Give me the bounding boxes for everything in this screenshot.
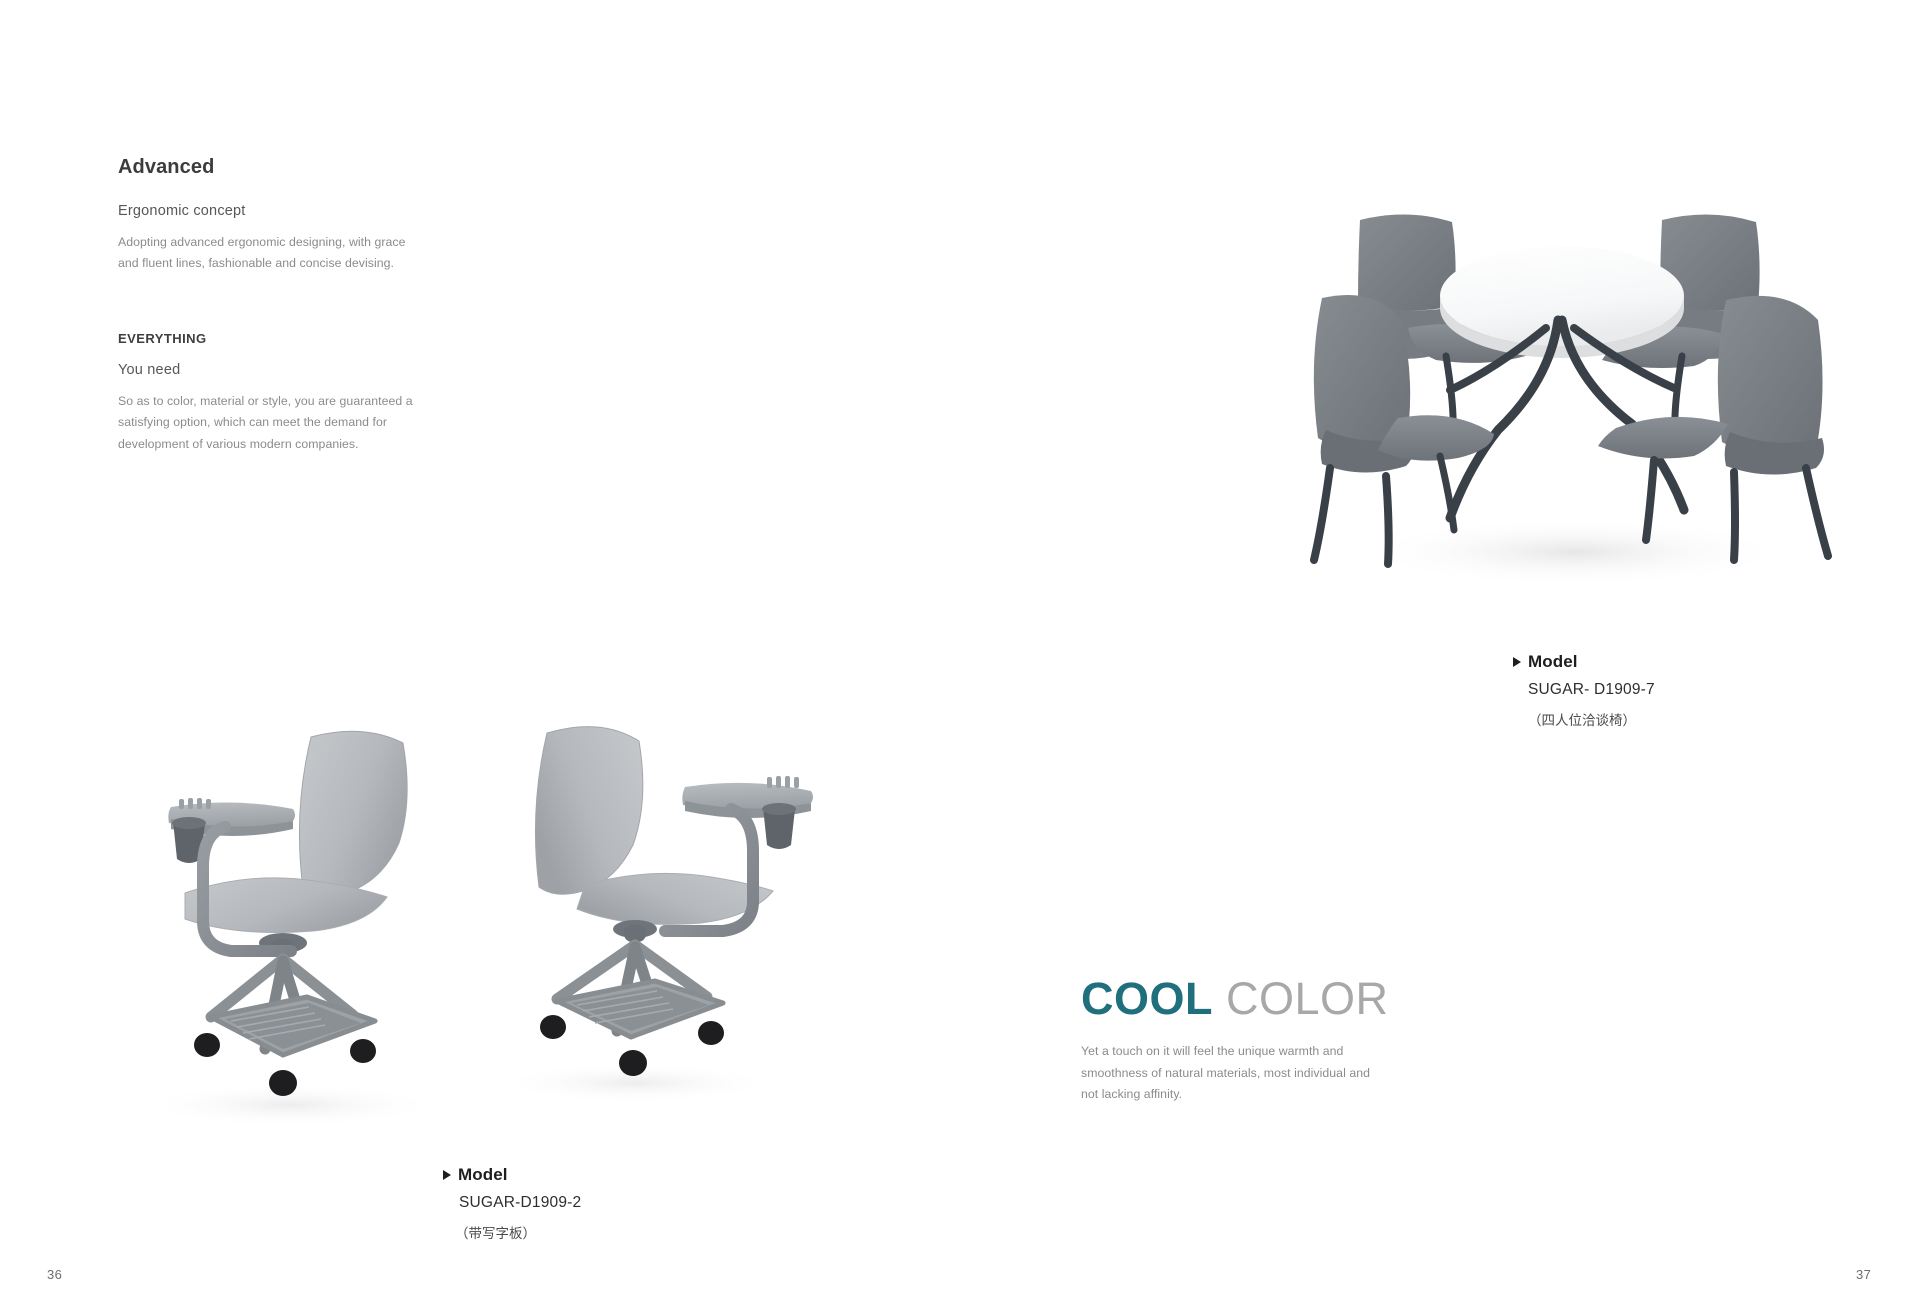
- cool-color-block: COOL COLOR Yet a touch on it will feel t…: [1081, 975, 1381, 1106]
- caption-model-d1909-7: Model SUGAR- D1909-7 （四人位洽谈椅）: [1513, 652, 1655, 729]
- everything-paragraph: So as to color, material or style, you a…: [118, 391, 418, 454]
- triangle-right-icon: [1513, 657, 1521, 667]
- advanced-heading: Advanced: [118, 155, 418, 179]
- caption-model-d1909-2: Model SUGAR-D1909-2 （带写字板）: [443, 1165, 581, 1242]
- page-number-right: 37: [1856, 1267, 1871, 1282]
- triangle-right-icon: [443, 1170, 451, 1180]
- advanced-paragraph: Adopting advanced ergonomic designing, w…: [118, 232, 418, 274]
- color-word: COLOR: [1226, 973, 1389, 1024]
- tablet-arm-chairs-photo: [95, 715, 865, 1135]
- ergonomic-concept-subheading: Ergonomic concept: [118, 203, 418, 219]
- cool-color-paragraph: Yet a touch on it will feel the unique w…: [1081, 1041, 1381, 1106]
- page-number-left: 36: [47, 1267, 62, 1282]
- round-table-four-chairs-photo: [1290, 180, 1850, 600]
- advanced-copy-block: Advanced Ergonomic concept Adopting adva…: [118, 155, 418, 455]
- caption-model-chinese: （带写字板）: [455, 1222, 581, 1242]
- caption-model-label: Model: [1528, 652, 1578, 672]
- catalog-spread: Advanced Ergonomic concept Adopting adva…: [0, 0, 1920, 1303]
- caption-model-code: SUGAR- D1909-7: [1528, 681, 1655, 699]
- cool-word: COOL: [1081, 973, 1213, 1024]
- caption-model-code: SUGAR-D1909-2: [459, 1194, 581, 1212]
- cool-color-heading: COOL COLOR: [1081, 975, 1381, 1022]
- caption-model-chinese: （四人位洽谈椅）: [1528, 709, 1655, 729]
- you-need-subheading: You need: [118, 362, 418, 378]
- caption-model-label: Model: [458, 1165, 508, 1185]
- everything-heading: EVERYTHING: [118, 331, 418, 346]
